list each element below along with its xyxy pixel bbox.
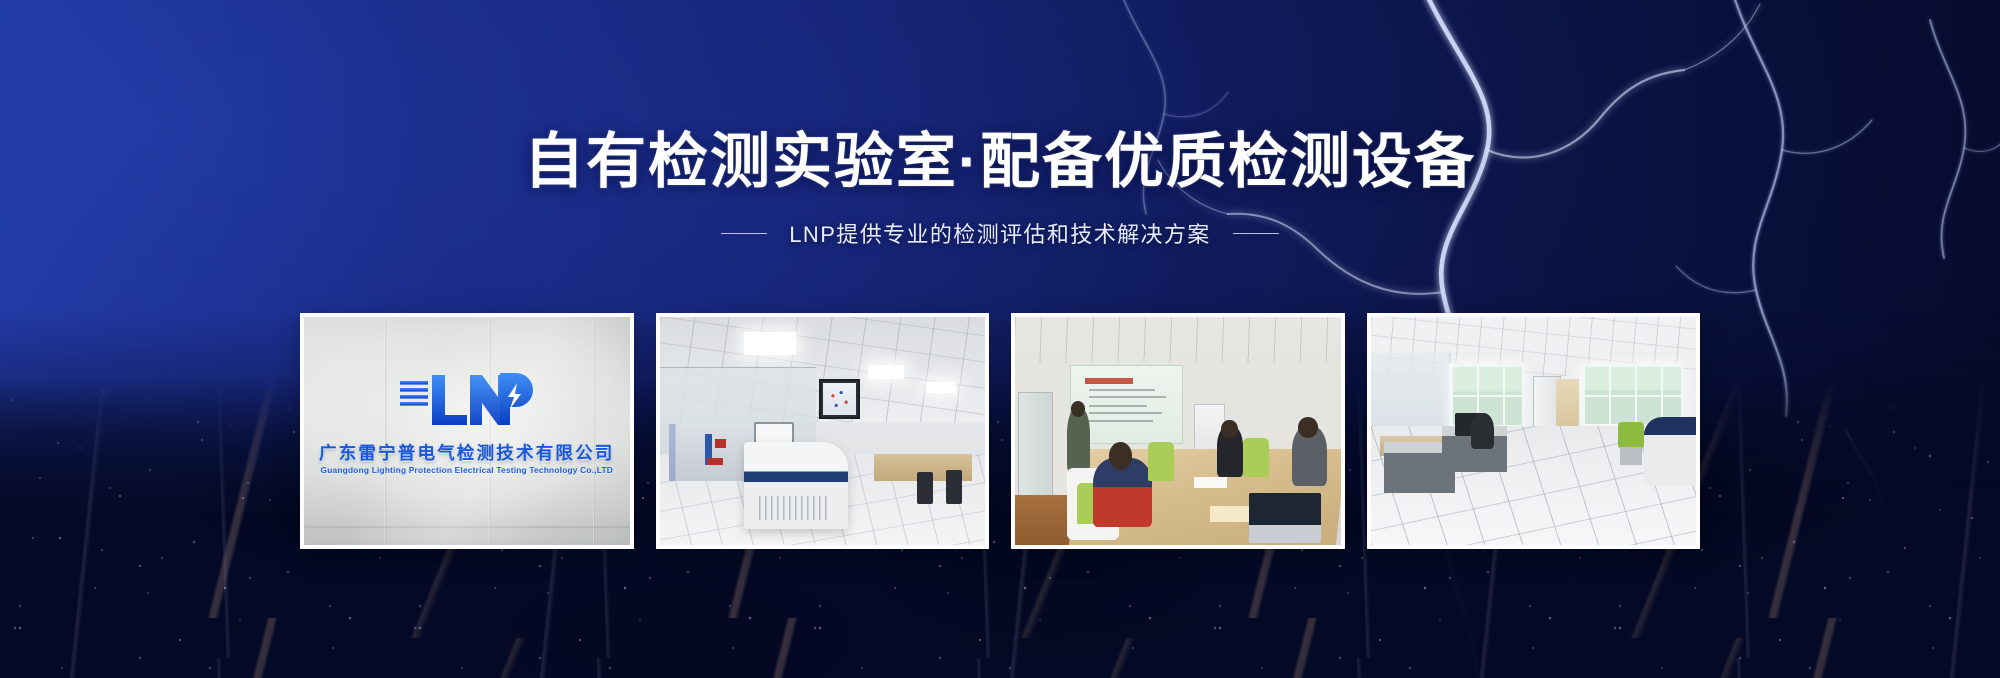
photo-gallery-row: 广东雷宁普电气检测技术有限公司 Guangdong Lighting Prote… xyxy=(300,313,1700,549)
slide-text-line xyxy=(1089,389,1155,391)
logo-sign-group: 广东雷宁普电气检测技术有限公司 Guangdong Lighting Prote… xyxy=(304,367,630,475)
lab-control-console xyxy=(744,442,848,529)
lnp-logo-icon xyxy=(396,367,538,431)
person-attendee-head xyxy=(1298,417,1318,438)
photo-testing-laboratory xyxy=(660,317,986,545)
window-mullions xyxy=(1583,365,1681,424)
subtitle-rule-right-icon xyxy=(1233,233,1279,234)
tv-screen xyxy=(823,383,856,415)
ceiling-panel-light xyxy=(868,365,904,379)
ceiling-panel-light xyxy=(926,382,955,392)
lab-test-equipment-rack xyxy=(669,424,750,481)
wall-mounted-tv-icon xyxy=(819,379,860,419)
slide-text-line xyxy=(1089,405,1147,407)
console-vent-slots xyxy=(759,496,830,520)
hero-subtitle-row: LNP提供专业的检测评估和技术解决方案 xyxy=(0,195,2000,249)
person-presenter xyxy=(1067,408,1090,472)
person-at-desk xyxy=(1471,413,1494,449)
gallery-card-office-area[interactable] xyxy=(1367,313,1701,549)
hero-banner: 自有检测实验室·配备优质检测设备 LNP提供专业的检测评估和技术解决方案 xyxy=(0,0,2000,678)
reception-counter xyxy=(1644,417,1696,485)
slide-title-bar xyxy=(1085,378,1134,383)
documents-on-table xyxy=(1194,477,1227,488)
hero-title: 自有检测实验室·配备优质检测设备 xyxy=(0,0,2000,195)
photo-office-area xyxy=(1371,317,1697,545)
gallery-card-meeting-room[interactable] xyxy=(1011,313,1345,549)
meeting-chair-seat xyxy=(1243,438,1269,477)
ceiling-panel-light xyxy=(744,332,796,355)
lab-chair xyxy=(917,472,933,504)
chair-frame xyxy=(1620,447,1643,465)
gallery-card-company-logo-wall[interactable]: 广东雷宁普电气检测技术有限公司 Guangdong Lighting Prote… xyxy=(300,313,634,549)
gallery-card-testing-laboratory[interactable] xyxy=(656,313,990,549)
meeting-chair-seat xyxy=(1148,442,1174,481)
lab-chair xyxy=(946,470,962,504)
company-name-cn: 广东雷宁普电气检测技术有限公司 xyxy=(304,440,630,465)
person-attendee-head xyxy=(1221,420,1237,438)
company-name-en: Guangdong Lighting Protection Electrical… xyxy=(304,466,630,475)
photo-meeting-room xyxy=(1015,317,1341,545)
hero-text-block: 自有检测实验室·配备优质检测设备 LNP提供专业的检测评估和技术解决方案 xyxy=(0,0,2000,249)
meeting-room-door xyxy=(1018,392,1053,499)
slide-text-line xyxy=(1089,420,1153,422)
slide-text-line xyxy=(1089,396,1166,398)
photo-company-logo-wall: 广东雷宁普电气检测技术有限公司 Guangdong Lighting Prote… xyxy=(304,317,630,545)
laptop-computer xyxy=(1249,493,1321,543)
subtitle-rule-left-icon xyxy=(721,233,767,234)
equipment-red-part xyxy=(707,458,723,465)
person-attendee-head xyxy=(1109,442,1132,469)
hero-subtitle: LNP提供专业的检测评估和技术解决方案 xyxy=(789,217,1210,249)
equipment-red-part xyxy=(715,439,726,448)
meeting-room-ceiling xyxy=(1015,317,1341,363)
office-visitor-chair xyxy=(1618,422,1644,449)
slide-text-line xyxy=(1089,412,1162,414)
